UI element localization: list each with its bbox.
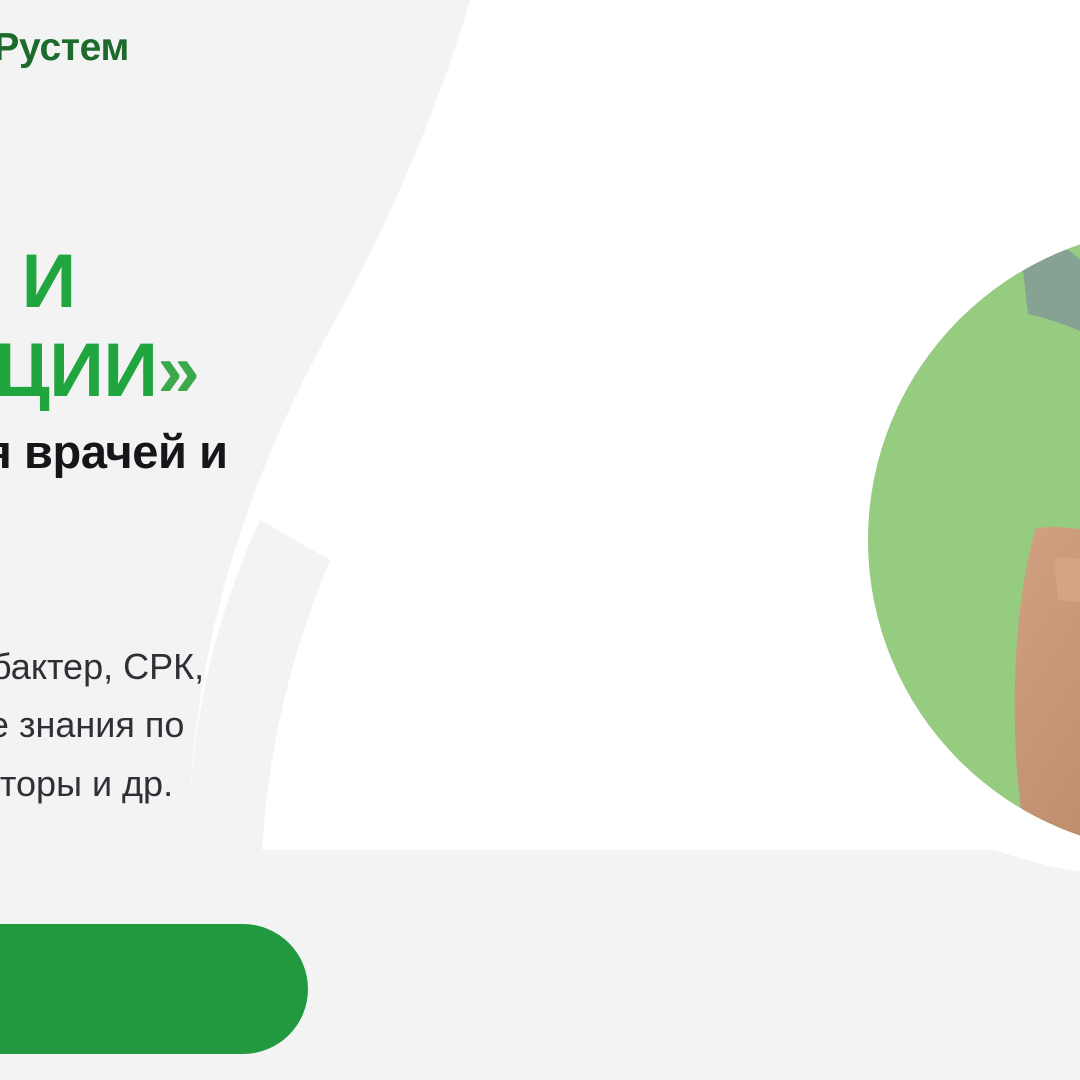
page-title: НАЯ ОЛОГИЯ И ОКСИКАЦИИ»: [0, 147, 862, 416]
hero-description: ИБР, СИГР, хеликобактер, СРК, ХЯК. И уни…: [0, 638, 862, 813]
closing-quote-mark: »: [158, 328, 200, 413]
speaker-portrait: [868, 228, 1080, 852]
description-line-3: кофакторы, ингибиторы и др.: [0, 755, 862, 813]
description-line-1: ИБР, СИГР, хеликобактер, СРК,: [0, 638, 862, 696]
hero-banner: х наук Садыков Рустем НАЯ ОЛОГИЯ И ОКСИК…: [0, 0, 1080, 1080]
person-photo-illustration: [868, 228, 1080, 852]
speaker-credentials-line: х наук Садыков Рустем: [0, 26, 862, 70]
headline-line-3-text: ОКСИКАЦИИ: [0, 328, 158, 413]
hero-text-column: х наук Садыков Рустем НАЯ ОЛОГИЯ И ОКСИК…: [0, 0, 882, 1080]
headline-line-1: НАЯ: [0, 147, 862, 237]
person-photo: [868, 228, 1080, 852]
description-line-2: ХЯК. И уникальные знания по: [0, 696, 862, 754]
cta-button[interactable]: [0, 924, 308, 1054]
page-subtitle: -интенсив для врачей и: [0, 424, 862, 480]
headline-line-3: ОКСИКАЦИИ»: [0, 326, 862, 416]
headline-line-2: ОЛОГИЯ И: [0, 237, 862, 327]
